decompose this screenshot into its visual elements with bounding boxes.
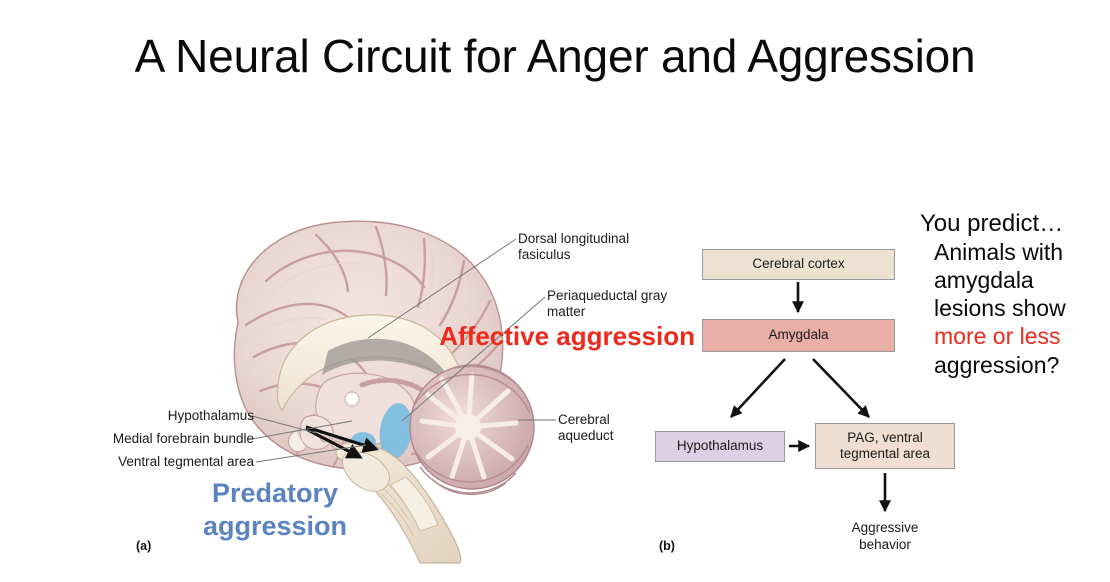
arrow-amygdala-to-pag <box>813 359 869 417</box>
label-cerebral-aqueduct: Cerebral aqueduct <box>558 412 614 444</box>
panel-b-flow-chart: Cerebral cortex Amygdala Hypothalamus PA… <box>645 235 965 582</box>
flow-box-pag-ventral-tegmental-area: PAG, ventral tegmental area <box>815 423 955 469</box>
prediction-line-2: amygdala <box>934 266 1100 294</box>
prediction-body: Animals with amygdala lesions show more … <box>934 238 1100 378</box>
arrow-amygdala-to-hypothalamus <box>731 359 785 417</box>
label-dorsal-longitudinal-fasiculus: Dorsal longitudinal fasiculus <box>518 231 629 263</box>
page-title: A Neural Circuit for Anger and Aggressio… <box>0 28 1110 86</box>
label-medial-forebrain-bundle: Medial forebrain bundle <box>14 431 254 447</box>
label-ventral-tegmental-area: Ventral tegmental area <box>14 454 254 470</box>
label-aggressive-behavior: Aggressive behavior <box>815 520 955 554</box>
prediction-line-3: lesions show <box>934 294 1100 322</box>
panel-a-brain-figure: Dorsal longitudinal fasiculus Periaquedu… <box>120 205 590 582</box>
prediction-line-4-emphasis: more or less <box>934 322 1100 350</box>
prediction-line-1: Animals with <box>934 238 1100 266</box>
panel-a-caption: (a) <box>136 539 151 553</box>
prediction-heading: You predict… <box>920 210 1100 238</box>
panel-b-caption: (b) <box>659 539 675 553</box>
prediction-panel: You predict… Animals with amygdala lesio… <box>920 210 1100 379</box>
flow-box-cerebral-cortex: Cerebral cortex <box>702 249 895 280</box>
flow-box-hypothalamus: Hypothalamus <box>655 431 785 462</box>
annotation-predatory-aggression: Predatory aggression <box>150 477 400 544</box>
flow-box-amygdala: Amygdala <box>702 319 895 352</box>
prediction-line-5: aggression? <box>934 351 1100 379</box>
label-hypothalamus: Hypothalamus <box>14 408 254 424</box>
